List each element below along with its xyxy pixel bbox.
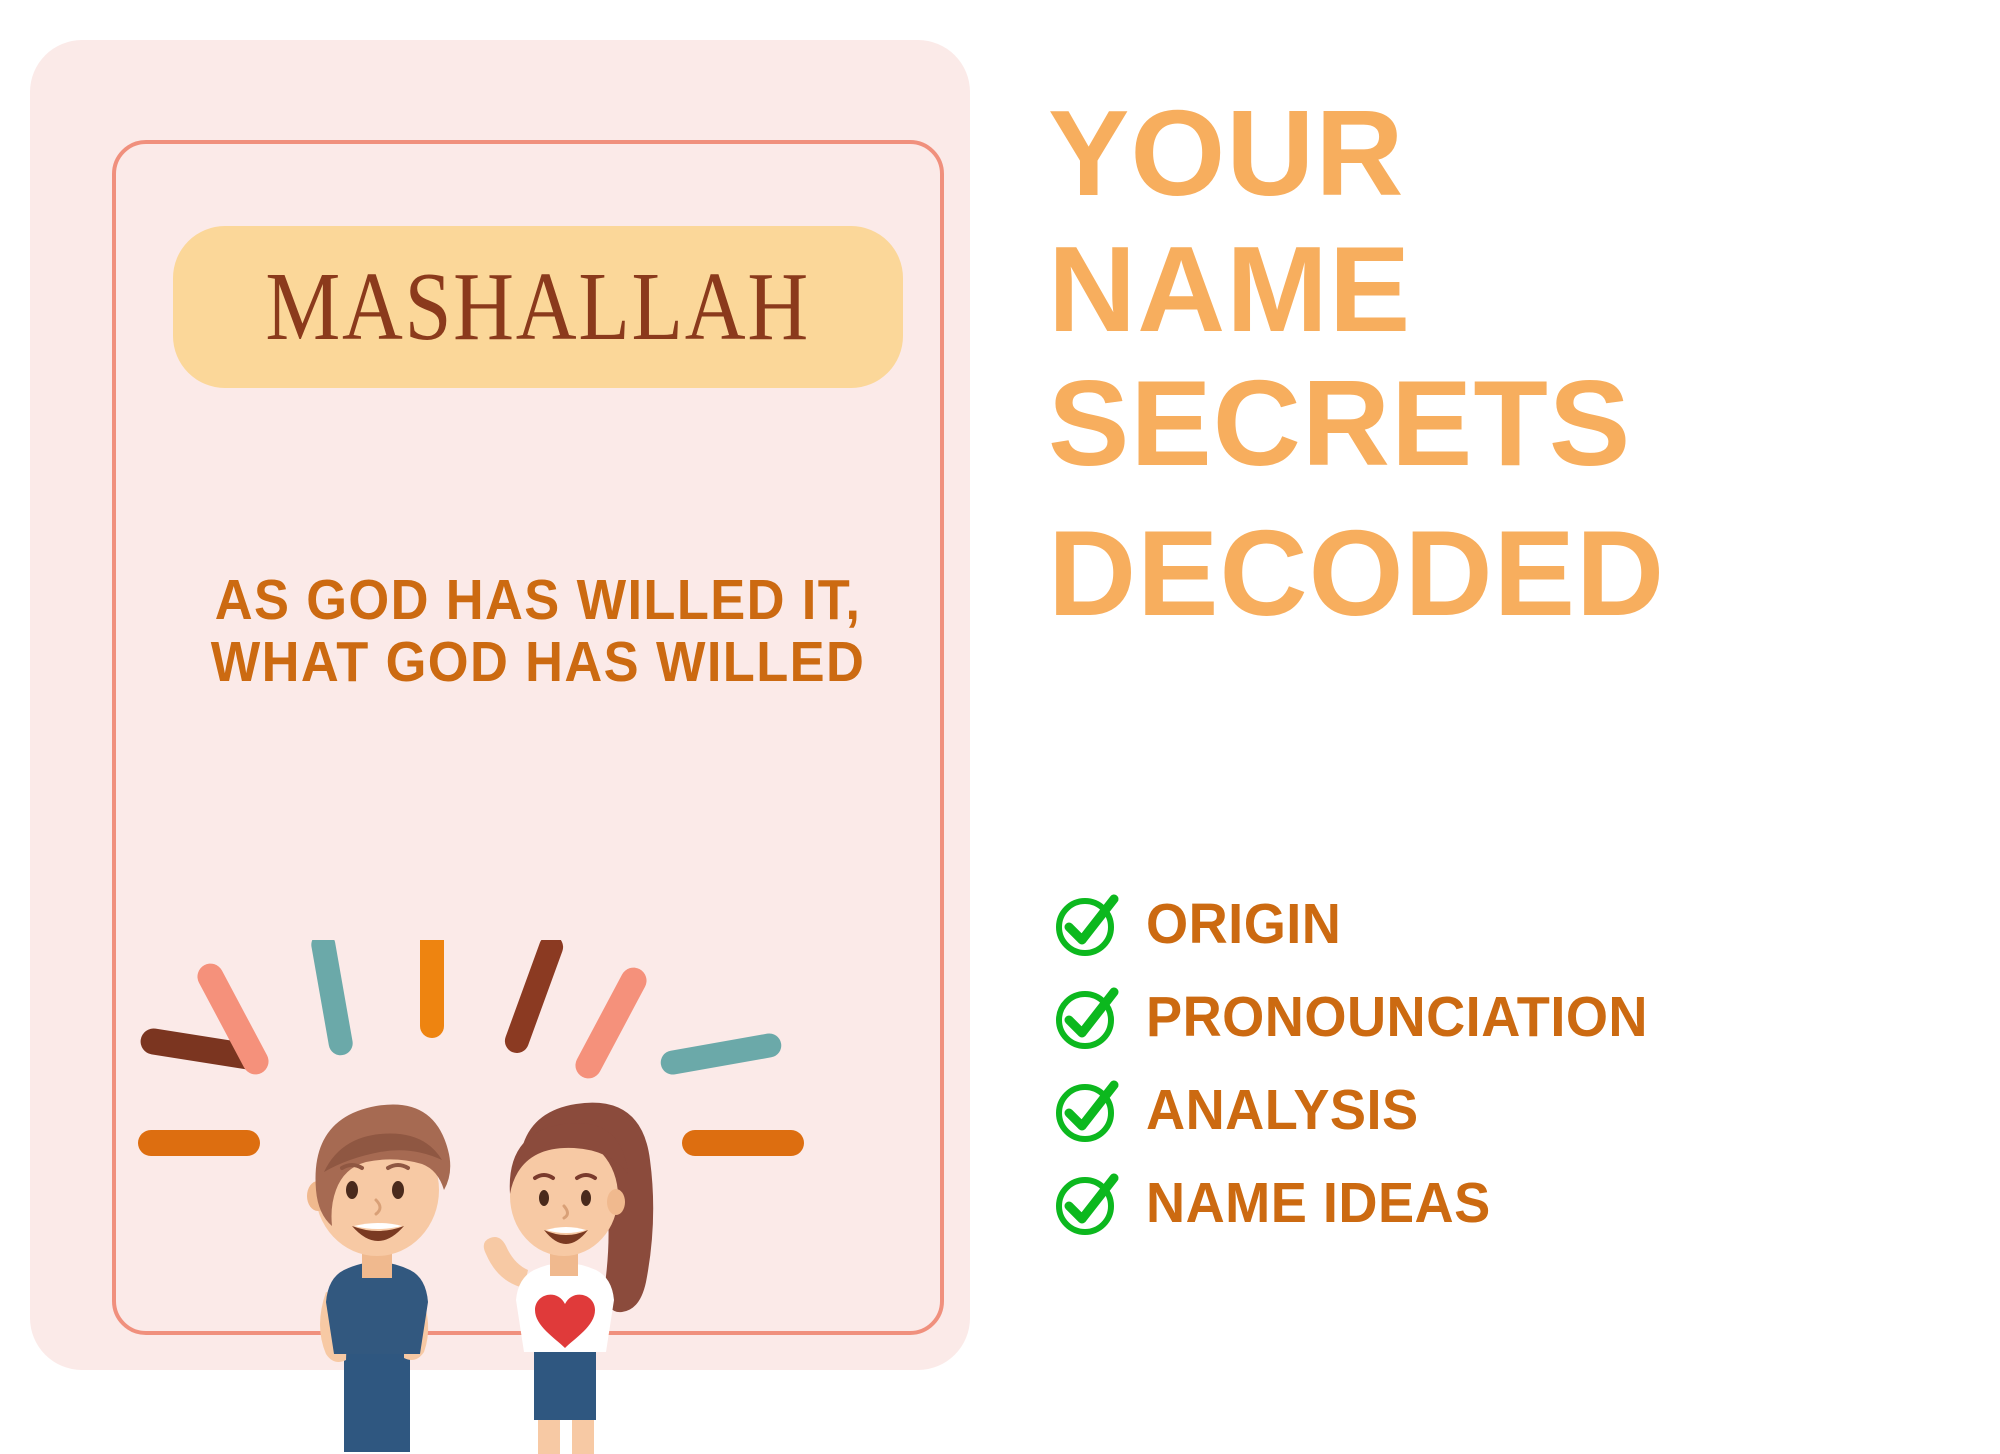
ray-orange-left — [138, 1130, 260, 1156]
feature-list: ORIGIN PRONOUNCIATION ANALYSIS — [1052, 878, 1952, 1250]
girl-leg-left — [538, 1420, 560, 1454]
boy-eye-right — [392, 1181, 404, 1199]
headline-line-decoded: DECODED — [1048, 512, 1665, 634]
check-circle-icon — [1052, 982, 1124, 1054]
name-pill-label: MASHALLAH — [266, 258, 811, 356]
name-pill: MASHALLAH — [173, 226, 903, 388]
girl-eye-left — [539, 1190, 549, 1206]
ray-teal-right — [659, 1032, 783, 1077]
ray-orange-top — [420, 940, 444, 1038]
girl-leg-right — [572, 1420, 594, 1454]
check-circle-icon — [1052, 1168, 1124, 1240]
ray-brown-right-upper — [502, 940, 567, 1056]
ray-orange-right — [682, 1130, 804, 1156]
headline-line-secrets: SECRETS — [1048, 362, 1631, 484]
feature-label-name-ideas: NAME IDEAS — [1146, 1175, 1491, 1232]
feature-label-analysis: ANALYSIS — [1146, 1082, 1419, 1139]
check-circle-icon — [1052, 889, 1124, 961]
check-circle-icon — [1052, 1075, 1124, 1147]
feature-row-analysis: ANALYSIS — [1052, 1064, 1952, 1157]
feature-label-pronounciation: PRONOUNCIATION — [1146, 989, 1648, 1046]
girl-figure — [484, 1103, 653, 1454]
boy-figure — [307, 1104, 450, 1452]
feature-row-pronounciation: PRONOUNCIATION — [1052, 971, 1952, 1064]
feature-label-origin: ORIGIN — [1146, 896, 1341, 953]
ray-teal-left — [309, 940, 354, 1057]
name-meaning-text: AS GOD HAS WILLED IT, WHAT GOD HAS WILLE… — [202, 570, 874, 693]
girl-eye-right — [581, 1190, 591, 1206]
children-sunburst-illustration — [130, 940, 910, 1454]
sunburst-rays — [138, 940, 804, 1156]
headline-line-name: NAME — [1048, 228, 1411, 350]
right-panel: YOUR NAME SECRETS DECODED ORIGIN PRONOUN… — [1048, 0, 1968, 1414]
ray-salmon-right — [571, 963, 651, 1083]
boy-eye-left — [346, 1181, 358, 1199]
feature-row-origin: ORIGIN — [1052, 878, 1952, 971]
boy-shorts — [344, 1340, 410, 1452]
girl-arm-raised — [484, 1237, 528, 1288]
feature-row-name-ideas: NAME IDEAS — [1052, 1157, 1952, 1250]
headline-line-your: YOUR — [1048, 92, 1404, 214]
name-card: MASHALLAH AS GOD HAS WILLED IT, WHAT GOD… — [30, 40, 970, 1370]
girl-ear — [607, 1189, 625, 1215]
girl-shorts — [534, 1344, 596, 1420]
